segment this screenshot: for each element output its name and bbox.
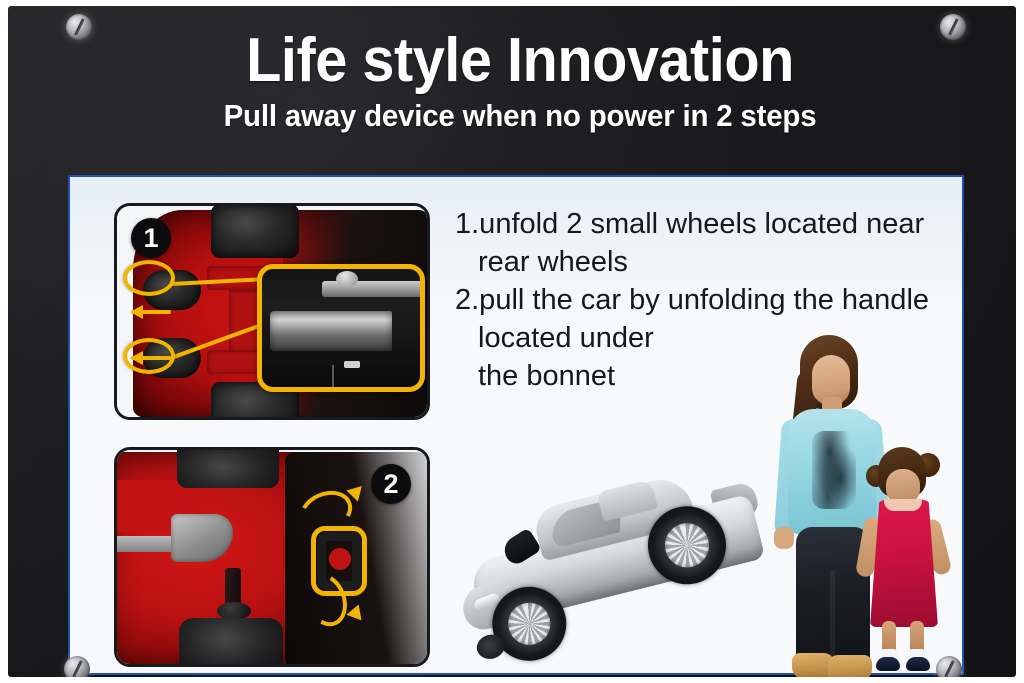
- screw-icon: [66, 14, 92, 40]
- page-subtitle: Pull away device when no power in 2 step…: [34, 98, 1007, 134]
- screw-slot: [72, 660, 83, 677]
- screw-slot: [74, 18, 85, 35]
- step-2-line-2: located under: [455, 319, 955, 357]
- step-1-line-1: 1.unfold 2 small wheels located near: [455, 205, 955, 243]
- sign-root: Life style Innovation Pull away device w…: [0, 0, 1024, 683]
- inset-nub: [336, 271, 358, 287]
- content-panel: 1: [68, 175, 964, 675]
- screw-icon: [64, 656, 90, 677]
- screw-icon: [940, 14, 966, 40]
- inset-pin: [344, 361, 360, 368]
- step-badge-2: 2: [371, 464, 411, 504]
- woman-left-hand: [774, 527, 794, 549]
- step-2-line-3: the bonnet: [455, 357, 955, 395]
- screw-slot: [948, 18, 959, 35]
- screw-icon: [936, 656, 962, 677]
- step-1-photo: 1: [114, 203, 430, 420]
- girl-right-shoe: [906, 657, 930, 671]
- rear-tire: [211, 204, 299, 258]
- inset-line: [332, 365, 334, 392]
- highlight-arrow: [131, 356, 171, 360]
- magnified-inset-wheel: [257, 264, 425, 392]
- inset-axle: [270, 311, 392, 351]
- front-tire: [179, 618, 283, 667]
- step-2-line-1: 2.pull the car by unfolding the handle: [455, 281, 955, 319]
- underbody-bracket: [171, 514, 233, 562]
- girl-collar: [884, 499, 922, 511]
- girl-left-shoe: [876, 657, 900, 671]
- step-2-photo: 2: [114, 447, 430, 667]
- woman-top-print: [812, 431, 856, 509]
- girl-figure: [858, 445, 950, 673]
- instruction-list: 1.unfold 2 small wheels located near rea…: [455, 205, 955, 395]
- step-badge-1: 1: [131, 218, 171, 258]
- toy-car: [440, 448, 801, 677]
- rear-tire: [177, 447, 279, 488]
- header: Life style Innovation Pull away device w…: [8, 28, 1016, 134]
- highlight-arrow: [131, 310, 171, 314]
- step-1-line-2: rear wheels: [455, 243, 955, 281]
- screw-slot: [944, 660, 955, 677]
- page-title: Life style Innovation: [44, 28, 996, 94]
- highlight-circle-wheel: [123, 260, 175, 296]
- girl-dress: [870, 499, 938, 627]
- sign-plate: Life style Innovation Pull away device w…: [8, 6, 1016, 677]
